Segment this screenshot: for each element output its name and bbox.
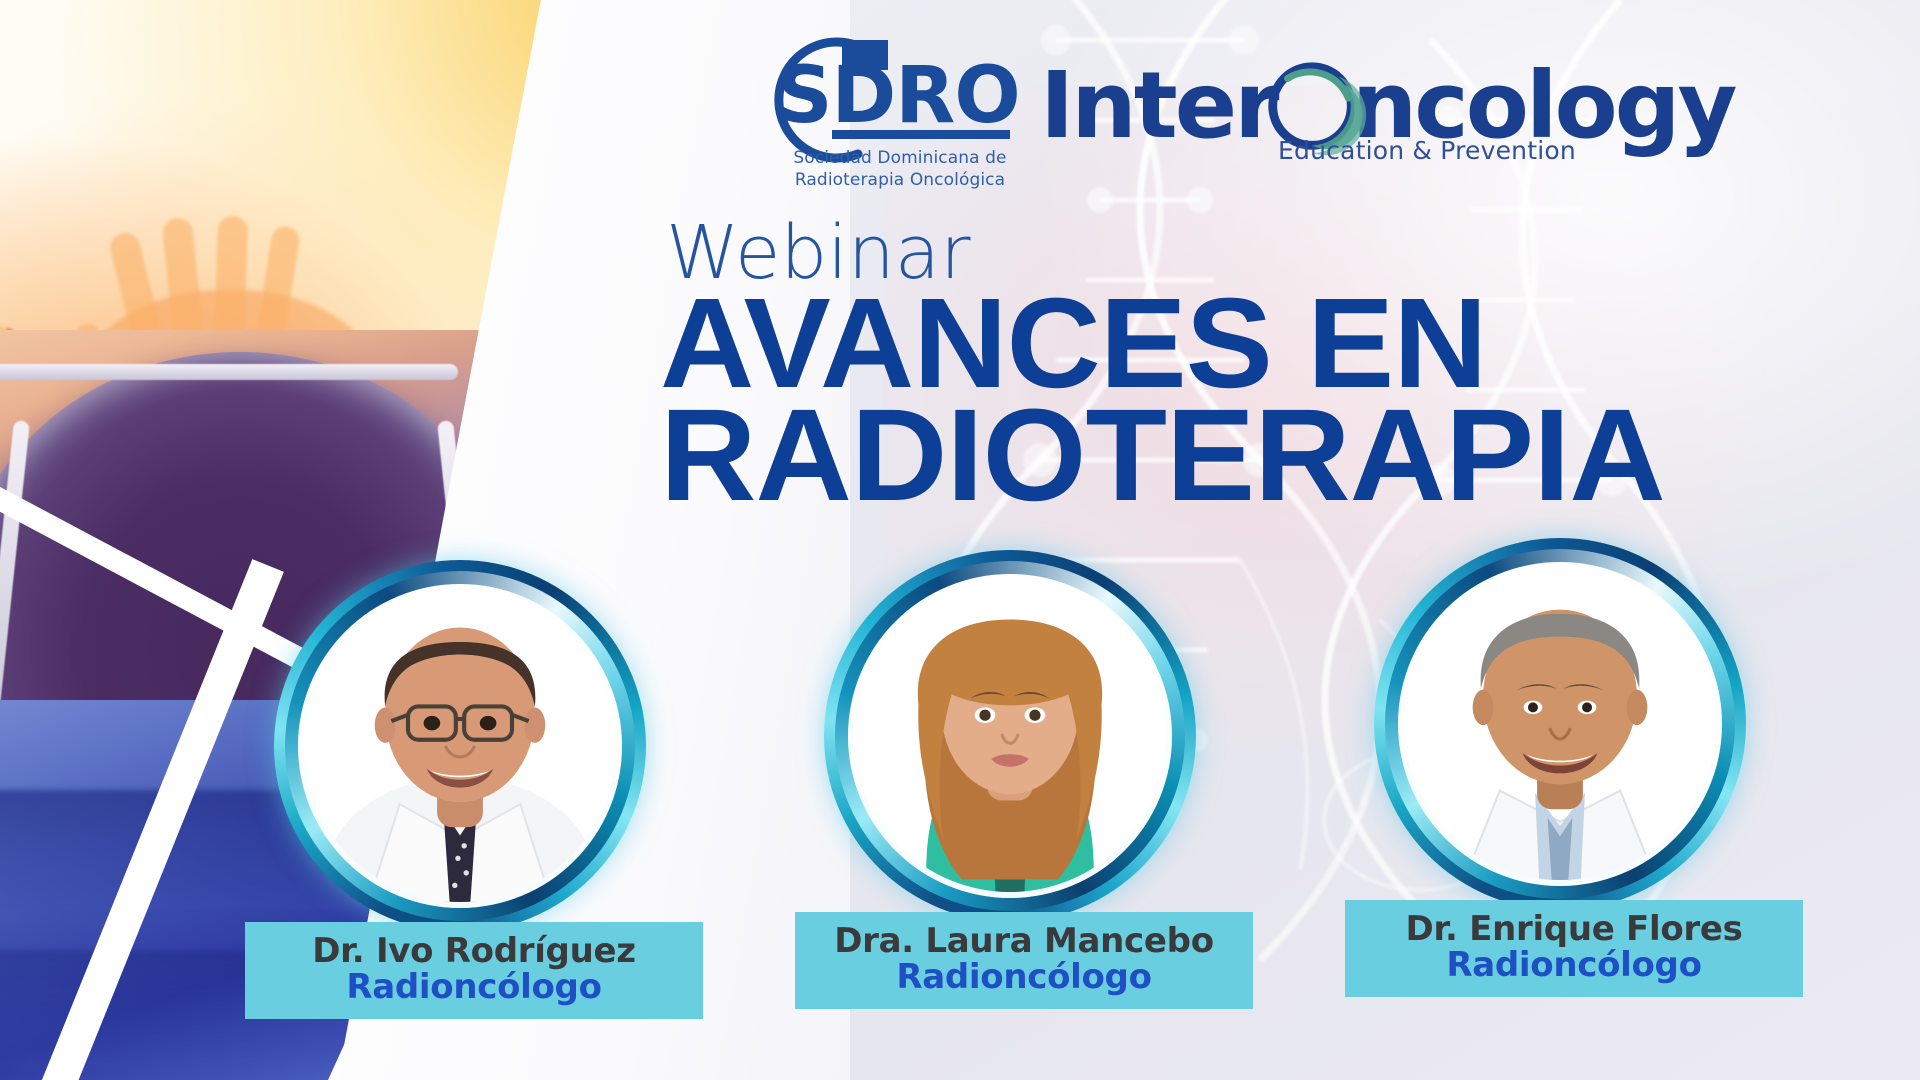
speaker-2-role: Radioncólogo [809, 959, 1239, 995]
speaker-1-name: Dr. Ivo Rodríguez [259, 934, 689, 969]
speaker-card-3: Dr. Enrique Flores Radioncólogo [1350, 538, 1770, 997]
svg-text:SDRO: SDRO [776, 51, 1019, 141]
interoncology-part1: Inter [1040, 52, 1276, 159]
sdro-subtitle-line2: Radioterapia Oncológica [760, 170, 1040, 192]
headline-block: Webinar AVANCES EN RADIOTERAPIA [660, 218, 1840, 512]
speaker-1-namebar: Dr. Ivo Rodríguez Radioncólogo [245, 922, 703, 1019]
speaker-3-portrait [1374, 538, 1746, 910]
interoncology-logo: InterOncology Education & Prevention [1040, 58, 1600, 178]
speaker-3-name: Dr. Enrique Flores [1359, 912, 1789, 947]
speaker-card-2: Dra. Laura Mancebo Radioncólogo [800, 550, 1220, 1009]
speaker-2-photo [854, 580, 1166, 892]
speaker-1-role: Radioncólogo [259, 969, 689, 1005]
speaker-3-role: Radioncólogo [1359, 947, 1789, 983]
speaker-1-portrait [274, 560, 646, 932]
sdro-logo-subtitle: Sociedad Dominicana de Radioterapia Onco… [760, 148, 1040, 192]
speaker-2-portrait [824, 550, 1196, 922]
webinar-poster: SDRO Sociedad Dominicana de Radioterapia… [0, 0, 1920, 1080]
speaker-2-name: Dra. Laura Mancebo [809, 924, 1239, 959]
logo-row: SDRO Sociedad Dominicana de Radioterapia… [0, 0, 1920, 210]
interoncology-tagline: Education & Prevention [1278, 136, 1576, 165]
speaker-card-1: Dr. Ivo Rodríguez Radioncólogo [250, 560, 670, 1019]
title-line-2: RADIOTERAPIA [660, 399, 1864, 512]
sdro-subtitle-line1: Sociedad Dominicana de [760, 148, 1040, 170]
speaker-2-namebar: Dra. Laura Mancebo Radioncólogo [795, 912, 1253, 1009]
speaker-3-namebar: Dr. Enrique Flores Radioncólogo [1345, 900, 1803, 997]
speakers-row: Dr. Ivo Rodríguez Radioncólogo [0, 560, 1920, 980]
speaker-1-photo [304, 590, 616, 902]
speaker-3-photo [1404, 568, 1716, 880]
